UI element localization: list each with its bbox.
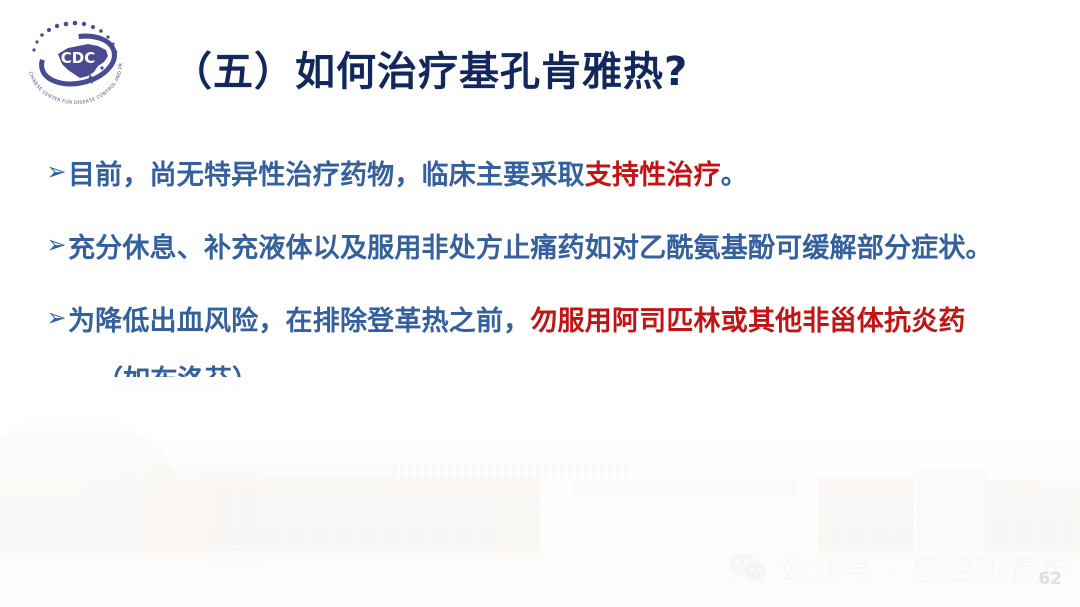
photo-building-far-right — [1040, 443, 1080, 495]
bullet-segment-emphasis: 支持性治疗 — [585, 160, 721, 191]
bullet-arrow-icon: ➢ — [47, 229, 67, 261]
background-campus-photo — [0, 377, 1080, 607]
photo-tree-left — [0, 413, 180, 583]
bullet-segment: 目前，尚无特异性治疗药物，临床主要采取 — [68, 160, 585, 191]
photo-sky — [0, 377, 1080, 607]
photo-windows-right-3 — [992, 493, 1078, 567]
page-number: 62 — [1038, 569, 1062, 589]
photo-gate-structure — [576, 485, 794, 577]
bullet-list: ➢ 目前，尚无特异性治疗药物，临床主要采取支持性治疗。 ➢ 充分休息、补充液体以… — [46, 156, 1040, 401]
photo-building-main-body — [200, 477, 540, 589]
photo-windows-main — [212, 487, 498, 585]
photo-building-main-roof — [176, 455, 398, 477]
bullet-text: 充分休息、补充液体以及服用非处方止痛药如对乙酰氨基酚可缓解部分症状。 — [68, 229, 993, 268]
bullet-text: 为降低出血风险，在排除登革热之前，勿服用阿司匹林或其他非甾体抗炎药 — [68, 306, 966, 337]
list-item: ➢ 目前，尚无特异性治疗药物，临床主要采取支持性治疗。 — [46, 156, 1040, 195]
bullet-segment: 为降低出血风险，在排除登革热之前， — [68, 306, 530, 337]
logo-cdc-wordmark: CDC — [61, 49, 95, 67]
photo-windows-right-1 — [826, 489, 912, 582]
bullet-continuation-text: （如布洛芬） — [96, 361, 966, 400]
bullet-segment: 充分休息、补充液体以及服用非处方止痛药如对乙酰氨基酚可缓解部分症状。 — [68, 233, 993, 264]
watermark-text: 公众号 · 感控新青年 — [779, 547, 1072, 589]
page-title: （五）如何治疗基孔肯雅热? — [172, 48, 688, 96]
list-item: ➢ 充分休息、补充液体以及服用非处方止痛药如对乙酰氨基酚可缓解部分症状。 — [46, 229, 1040, 268]
bullet-text: 目前，尚无特异性治疗药物，临床主要采取支持性治疗。 — [68, 156, 748, 195]
bullet-arrow-icon: ➢ — [47, 302, 67, 334]
photo-white-overlay — [0, 377, 1080, 607]
photo-building-right-3 — [984, 481, 1080, 589]
bullet-text-wrapper: 为降低出血风险，在排除登革热之前，勿服用阿司匹林或其他非甾体抗炎药 （如布洛芬） — [68, 302, 966, 400]
photo-road — [0, 581, 1080, 607]
photo-tree-left-2 — [60, 473, 210, 593]
chinese-cdc-logo: CHINESE CENTER FOR DISEASE CONTROL AND P… — [16, 10, 134, 110]
photo-building-right-1 — [818, 477, 914, 589]
photo-roof-teeth — [392, 463, 629, 477]
bullet-arrow-icon: ➢ — [47, 156, 67, 188]
bullet-segment: 。 — [721, 160, 748, 191]
bullet-segment-emphasis: 勿服用阿司匹林或其他非甾体抗炎药 — [530, 306, 965, 337]
photo-building-main — [148, 469, 260, 587]
slide-canvas: CHINESE CENTER FOR DISEASE CONTROL AND P… — [0, 0, 1080, 607]
photo-gate-top — [572, 481, 798, 497]
photo-building-right-2 — [916, 469, 988, 589]
wechat-watermark: 公众号 · 感控新青年 — [727, 547, 1072, 589]
wechat-icon — [727, 551, 769, 585]
list-item: ➢ 为降低出血风险，在排除登革热之前，勿服用阿司匹林或其他非甾体抗炎药 （如布洛… — [46, 302, 1040, 400]
photo-ground — [0, 551, 1080, 607]
